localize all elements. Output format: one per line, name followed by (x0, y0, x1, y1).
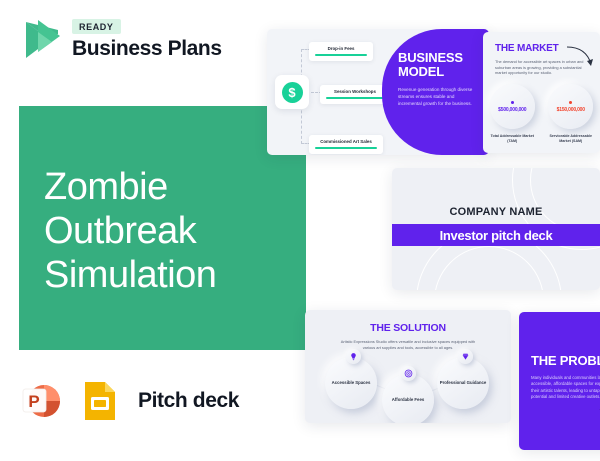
dollar-sign-icon: $ (275, 75, 309, 109)
page-title: Zombie Outbreak Simulation (44, 165, 304, 297)
node-label: Accessible Spaces (332, 380, 371, 386)
solution-node: Professional Guidance (437, 357, 489, 409)
item-label: Session Workshops (326, 89, 384, 94)
slide-subtitle: Investor pitch deck (440, 228, 553, 243)
solution-nodes: Accessible Spaces Affordable Fees Profes… (305, 357, 511, 419)
node-label: Professional Guidance (440, 380, 487, 386)
title-band: Investor pitch deck (392, 224, 600, 246)
metric-caption: Total Addressable Market (TAM) (486, 134, 538, 144)
brand-name: Business Plans (72, 37, 222, 61)
slide-the-problem[interactable]: THE PROBLEM Many individuals and communi… (519, 312, 600, 450)
ready-badge: READY (72, 19, 121, 34)
slide-title: COMPANY NAME (392, 206, 600, 218)
business-model-panel: BUSINESS MODEL Revenue generation throug… (382, 29, 489, 155)
format-label: Pitch deck (138, 389, 239, 413)
metric-value: $150,000,000 (557, 107, 585, 113)
metric-caption: Serviceable Addressable Market (SAM) (545, 134, 597, 144)
powerpoint-icon: P (18, 378, 64, 424)
solution-node: Accessible Spaces (325, 357, 377, 409)
slide-description: Revenue generation through diverse strea… (398, 86, 476, 107)
brand-logo-block: READY Business Plans (18, 16, 222, 64)
business-model-item[interactable]: Session Workshops (320, 85, 390, 104)
item-label: Commissioned Art Sales (315, 139, 377, 144)
item-underline (326, 97, 384, 99)
node-label: Affordable Fees (392, 397, 424, 403)
slide-title: THE SOLUTION (305, 322, 511, 334)
item-underline (315, 147, 377, 149)
metric-dot-icon (569, 101, 572, 104)
slide-description: Many individuals and communities lack ac… (531, 375, 600, 401)
metric-dot-icon (511, 101, 514, 104)
slide-title: THE PROBLEM (531, 353, 600, 368)
market-metric: $150,000,000 Serviceable Addressable Mar… (545, 84, 597, 144)
slide-title: BUSINESS MODEL (398, 51, 479, 79)
item-underline (315, 54, 367, 56)
slide-description: Artistic Expressions Studio offers versa… (339, 339, 477, 350)
market-metrics: $500,000,000 Total Addressable Market (T… (483, 84, 600, 144)
slide-company-name[interactable]: COMPANY NAME Investor pitch deck (392, 168, 600, 290)
slide-the-market[interactable]: THE MARKET The demand for accessible art… (483, 32, 600, 153)
google-slides-icon (77, 378, 123, 424)
format-badges: P Pitch deck (18, 378, 239, 424)
business-model-item[interactable]: Drop-in Fees (309, 42, 373, 61)
slide-the-solution[interactable]: THE SOLUTION Artistic Expressions Studio… (305, 310, 511, 423)
curved-arrow-icon (566, 44, 596, 70)
item-label: Drop-in Fees (315, 46, 367, 51)
play-triangle-logo-icon (18, 16, 62, 64)
metric-value: $500,000,000 (498, 107, 526, 113)
market-metric: $500,000,000 Total Addressable Market (T… (486, 84, 538, 144)
solution-node: Affordable Fees (382, 374, 434, 423)
slide-business-model[interactable]: $ Drop-in Fees Session Workshops Commiss… (267, 29, 489, 155)
business-model-item[interactable]: Commissioned Art Sales (309, 135, 383, 154)
svg-text:P: P (28, 392, 39, 411)
